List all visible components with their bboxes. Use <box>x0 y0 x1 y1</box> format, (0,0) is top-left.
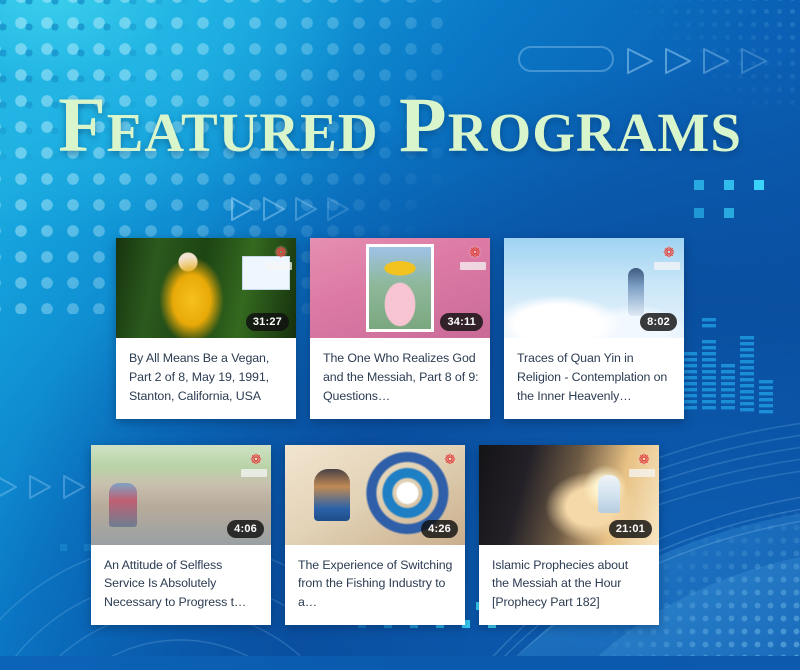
channel-logo-icon: ❁ <box>658 241 680 263</box>
program-row-2: ❁ 4:06 An Attitude of Selfless Service I… <box>0 445 800 626</box>
program-thumbnail[interactable]: ❁ 4:26 <box>285 445 465 545</box>
channel-logo-icon: ❁ <box>245 448 267 470</box>
channel-logo-icon: ❁ <box>439 448 461 470</box>
program-card[interactable]: ❁ 8:02 Traces of Quan Yin in Religion - … <box>504 238 684 419</box>
thumbnail-caption-chip <box>266 262 292 270</box>
program-card[interactable]: ❁ 21:01 Islamic Prophecies about the Mes… <box>479 445 659 626</box>
bottom-edge-strip <box>0 656 800 670</box>
channel-logo-icon: ❁ <box>633 448 655 470</box>
duration-badge: 4:26 <box>421 520 458 538</box>
program-title[interactable]: By All Means Be a Vegan, Part 2 of 8, Ma… <box>129 349 285 406</box>
program-card-body: The Experience of Switching from the Fis… <box>285 545 465 626</box>
program-card[interactable]: ❁ 34:11 The One Who Realizes God and the… <box>310 238 490 419</box>
program-thumbnail[interactable]: ❁ 21:01 <box>479 445 659 545</box>
duration-badge: 21:01 <box>609 520 652 538</box>
triangles-top-right <box>622 44 782 78</box>
thumbnail-caption-chip <box>241 469 267 477</box>
program-card[interactable]: ❁ 4:06 An Attitude of Selfless Service I… <box>91 445 271 626</box>
channel-logo-icon: ❁ <box>464 241 486 263</box>
program-card-body: The One Who Realizes God and the Messiah… <box>310 338 490 419</box>
thumbnail-caption-chip <box>629 469 655 477</box>
triangles-mid-left <box>228 194 360 224</box>
thumbnail-caption-chip <box>654 262 680 270</box>
program-row-1: ❁ 31:27 By All Means Be a Vegan, Part 2 … <box>0 238 800 419</box>
program-thumbnail[interactable]: ❁ 8:02 <box>504 238 684 338</box>
program-card-body: An Attitude of Selfless Service Is Absol… <box>91 545 271 626</box>
program-title[interactable]: Traces of Quan Yin in Religion - Contemp… <box>517 349 673 406</box>
featured-programs-banner: Featured Programs ❁ 31:27 By All Means B… <box>0 0 800 670</box>
thumbnail-caption-chip <box>460 262 486 270</box>
program-title[interactable]: The Experience of Switching from the Fis… <box>298 556 454 613</box>
program-card-body: Islamic Prophecies about the Messiah at … <box>479 545 659 626</box>
square-dots-right <box>694 180 786 228</box>
duration-badge: 8:02 <box>640 313 677 331</box>
program-card[interactable]: ❁ 4:26 The Experience of Switching from … <box>285 445 465 626</box>
pill-outline-decor <box>518 46 614 72</box>
program-thumbnail[interactable]: ❁ 31:27 <box>116 238 296 338</box>
featured-programs-grid: ❁ 31:27 By All Means Be a Vegan, Part 2 … <box>0 238 800 625</box>
program-thumbnail[interactable]: ❁ 34:11 <box>310 238 490 338</box>
channel-logo-icon: ❁ <box>270 241 292 263</box>
program-title[interactable]: The One Who Realizes God and the Messiah… <box>323 349 479 406</box>
program-thumbnail[interactable]: ❁ 4:06 <box>91 445 271 545</box>
program-card-body: Traces of Quan Yin in Religion - Contemp… <box>504 338 684 419</box>
program-card[interactable]: ❁ 31:27 By All Means Be a Vegan, Part 2 … <box>116 238 296 419</box>
duration-badge: 34:11 <box>440 313 483 331</box>
program-card-body: By All Means Be a Vegan, Part 2 of 8, Ma… <box>116 338 296 419</box>
duration-badge: 31:27 <box>246 313 289 331</box>
page-title: Featured Programs <box>0 86 800 164</box>
duration-badge: 4:06 <box>227 520 264 538</box>
program-title[interactable]: Islamic Prophecies about the Messiah at … <box>492 556 648 613</box>
program-title[interactable]: An Attitude of Selfless Service Is Absol… <box>104 556 260 613</box>
